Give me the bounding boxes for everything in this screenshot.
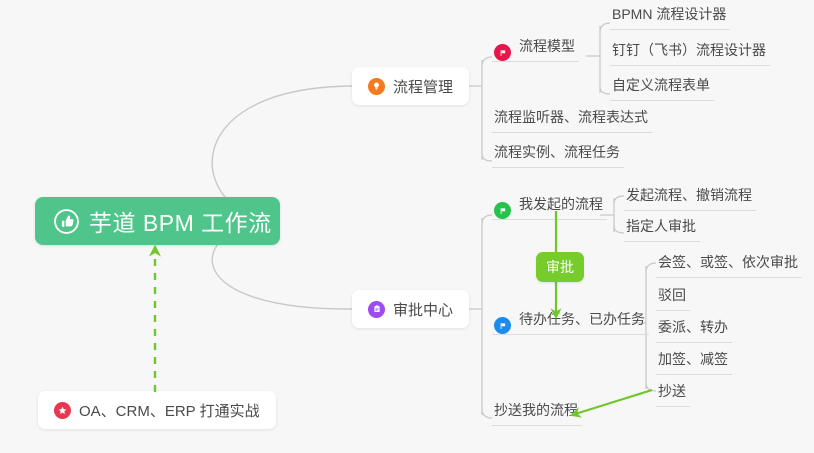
node-add-remove-sign-label: 加签、减签 <box>658 346 728 374</box>
node-countersign-or-sequential-label: 会签、或签、依次审批 <box>658 249 798 277</box>
rail-cap-process-model-bottom <box>600 87 610 94</box>
branch-process-management-label: 流程管理 <box>393 76 453 97</box>
rail-cap-approval-center-top <box>482 215 492 224</box>
flag-icon <box>494 44 511 61</box>
rail-cap-todo-done-top <box>646 263 656 272</box>
node-cc-label: 抄送 <box>658 378 686 406</box>
node-dingtalk-feishu-designer-label: 钉钉（飞书）流程设计器 <box>612 37 766 65</box>
branch-process-management[interactable]: 流程管理 <box>352 67 469 105</box>
node-process-instance-task[interactable]: 流程实例、流程任务 <box>492 138 624 168</box>
thumbs-up-icon <box>53 208 79 234</box>
flag-icon <box>494 317 511 334</box>
node-cc-to-me-process[interactable]: 抄送我的流程 <box>492 396 582 426</box>
node-process-listener-expression[interactable]: 流程监听器、流程表达式 <box>492 103 652 133</box>
mindmap-canvas: 芋道 BPM 工作流 流程管理 流程模型 BPMN 流程设计器 钉钉（飞书）流程… <box>0 0 814 453</box>
lightbulb-icon <box>368 78 385 95</box>
clipboard-icon <box>368 301 385 318</box>
node-assignee-approval[interactable]: 指定人审批 <box>624 212 700 242</box>
node-dingtalk-feishu-designer[interactable]: 钉钉（飞书）流程设计器 <box>610 36 770 66</box>
rail-cap-process-model-top <box>600 23 610 32</box>
node-cc-to-me-process-label: 抄送我的流程 <box>494 397 578 425</box>
node-delegate-transfer-label: 委派、转办 <box>658 314 728 342</box>
node-assignee-approval-label: 指定人审批 <box>626 213 696 241</box>
flag-icon <box>494 202 511 219</box>
node-todo-done-tasks-label: 待办任务、已办任务 <box>519 306 645 334</box>
footnote-node-label: OA、CRM、ERP 打通实战 <box>79 400 260 421</box>
rail-cap-process-management-top <box>482 57 492 66</box>
annotation-approval-pill-label: 审批 <box>546 257 574 277</box>
node-process-instance-task-label: 流程实例、流程任务 <box>494 139 620 167</box>
rail-cap-my-initiated-bottom <box>614 226 624 233</box>
node-my-initiated-process[interactable]: 我发起的流程 <box>492 190 607 220</box>
branch-approval-center[interactable]: 审批中心 <box>352 290 469 328</box>
annotation-approval-pill[interactable]: 审批 <box>536 252 584 282</box>
node-process-model[interactable]: 流程模型 <box>492 32 579 62</box>
node-my-initiated-process-label: 我发起的流程 <box>519 191 603 219</box>
arrow-cc-to-cc-process <box>572 390 652 415</box>
root-node[interactable]: 芋道 BPM 工作流 <box>35 197 280 245</box>
node-countersign-or-sequential[interactable]: 会签、或签、依次审批 <box>656 248 802 278</box>
node-process-listener-expression-label: 流程监听器、流程表达式 <box>494 104 648 132</box>
node-bpmn-designer-label: BPMN 流程设计器 <box>612 1 726 29</box>
node-custom-process-form[interactable]: 自定义流程表单 <box>610 71 714 101</box>
node-start-cancel-process[interactable]: 发起流程、撤销流程 <box>624 181 756 211</box>
rail-cap-my-initiated-top <box>614 196 624 204</box>
root-node-label: 芋道 BPM 工作流 <box>89 204 272 238</box>
footnote-node[interactable]: OA、CRM、ERP 打通实战 <box>38 391 276 429</box>
rail-cap-process-management-bottom <box>482 154 492 161</box>
node-start-cancel-process-label: 发起流程、撤销流程 <box>626 182 752 210</box>
node-process-model-label: 流程模型 <box>519 33 575 61</box>
node-add-remove-sign[interactable]: 加签、减签 <box>656 345 732 375</box>
node-delegate-transfer[interactable]: 委派、转办 <box>656 313 732 343</box>
node-custom-process-form-label: 自定义流程表单 <box>612 72 710 100</box>
rail-cap-approval-center-bottom <box>482 409 492 418</box>
node-bpmn-designer[interactable]: BPMN 流程设计器 <box>610 0 730 30</box>
node-reject[interactable]: 驳回 <box>656 281 690 311</box>
star-icon <box>54 402 71 419</box>
node-todo-done-tasks[interactable]: 待办任务、已办任务 <box>492 305 649 335</box>
node-reject-label: 驳回 <box>658 282 686 310</box>
branch-approval-center-label: 审批中心 <box>393 299 453 320</box>
node-cc[interactable]: 抄送 <box>656 377 690 407</box>
rail-cap-todo-done-bottom <box>646 383 656 391</box>
